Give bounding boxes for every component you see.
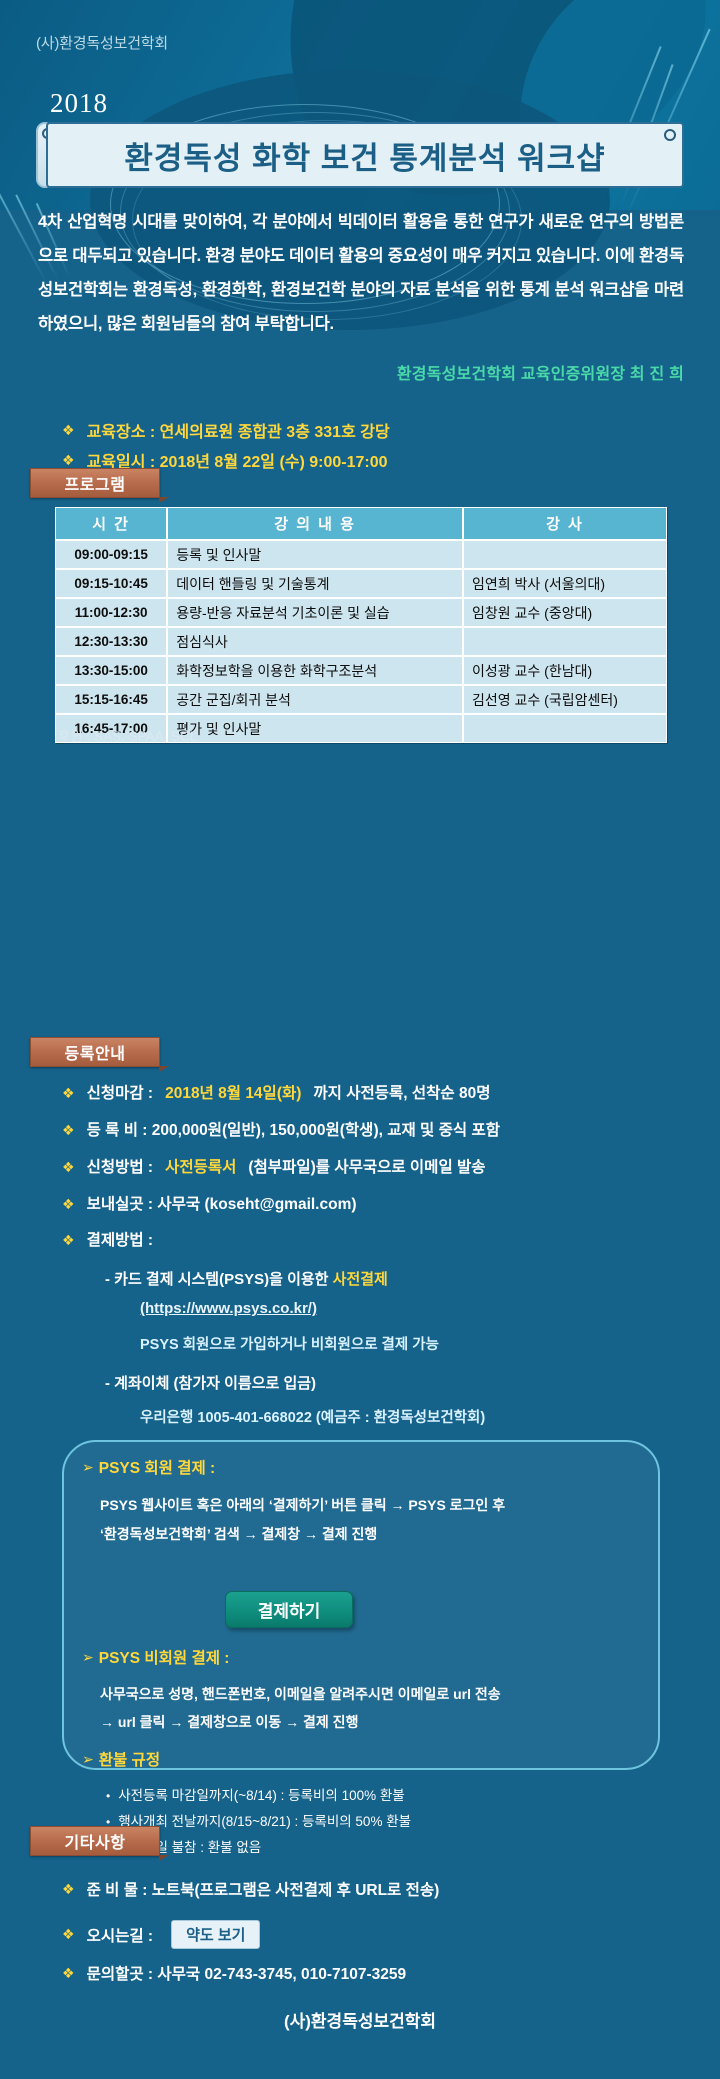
method-rest: (첨부파일)를 사무국으로 이메일 발송	[248, 1155, 485, 1177]
pay-button[interactable]: 결제하기	[225, 1591, 353, 1628]
cell-lecturer	[463, 714, 667, 743]
bank-transfer-line: - 계좌이체 (참가자 이름으로 입금)	[105, 1372, 316, 1393]
caret-right-icon: ➢	[82, 1649, 94, 1666]
psys-url-line: (https://www.psys.co.kr/)	[140, 1300, 317, 1317]
payment-label: 결제방법 :	[87, 1228, 154, 1250]
cell-topic: 데이터 핸들링 및 기술통계	[167, 569, 463, 598]
column-header-lecturer: 강 사	[463, 507, 667, 540]
table-row: 13:30-15:00 화학정보학을 이용한 화학구조분석 이성광 교수 (한남…	[55, 656, 667, 685]
psys-nonmember-step-2: → url 클릭 → 결제창으로 이동 → 결제 진행	[100, 1712, 358, 1732]
diamond-bullet-icon: ❖	[62, 1926, 75, 1943]
title-plate: 환경독성 화학 보건 통계분석 워크샵	[46, 122, 684, 188]
bank-account-line: 우리은행 1005-401-668022 (예금주 : 환경독성보건학회)	[140, 1406, 485, 1427]
deadline-label: 신청마감 :	[87, 1081, 154, 1103]
cell-lecturer: 이성광 교수 (한남대)	[463, 656, 667, 685]
refund-item-text: 행사개최 전날까지(8/15~8/21) : 등록비의 50% 환불	[118, 1810, 411, 1830]
sendto-text: 보내실곳 : 사무국 (koseht@gmail.com)	[87, 1192, 357, 1214]
table-header-row: 시 간 강 의 내 용 강 사	[55, 507, 667, 540]
psys-nonmember-heading-text: PSYS 비회원 결제 :	[99, 1646, 230, 1668]
sponsor-line: 후원 : SAS, SPAA, SCL	[58, 725, 197, 745]
diamond-bullet-icon: ❖	[62, 422, 75, 439]
cell-time: 13:30-15:00	[55, 656, 167, 685]
cell-lecturer: 김선영 교수 (국립암센터)	[463, 685, 667, 714]
cell-topic: 점심식사	[167, 627, 463, 656]
venue-text: 교육장소 : 연세의료원 종합관 3층 331호 강당	[87, 418, 390, 442]
cell-time: 15:15-16:45	[55, 685, 167, 714]
cell-topic: 공간 군집/회귀 분석	[167, 685, 463, 714]
method-label: 신청방법 :	[87, 1155, 154, 1177]
intro-paragraph: 4차 산업혁명 시대를 맞이하여, 각 분야에서 빅데이터 활용을 통한 연구가…	[38, 205, 684, 341]
cell-topic: 평가 및 인사말	[167, 714, 463, 743]
table-row: 12:30-13:30 점심식사	[55, 627, 667, 656]
section-header-registration: 등록안내	[30, 1037, 160, 1067]
refund-policy-heading: ➢ 환불 규정	[82, 1748, 160, 1770]
etc-directions-line: ❖ 오시는길 : 약도 보기	[62, 1920, 260, 1949]
cell-time: 12:30-13:30	[55, 627, 167, 656]
psys-nonmember-step-1: 사무국으로 성명, 핸드폰번호, 이메일을 알려주시면 이메일로 url 전송	[100, 1684, 501, 1704]
title-banner: 환경독성 화학 보건 통계분석 워크샵	[36, 122, 684, 188]
cell-lecturer: 임창원 교수 (중앙대)	[463, 598, 667, 627]
program-table: 시 간 강 의 내 용 강 사 09:00-09:15 등록 및 인사말 09:…	[55, 507, 667, 743]
psys-member-step-1: PSYS 웹사이트 혹은 아래의 ‘결제하기’ 버튼 클릭 → PSYS 로그인…	[100, 1495, 505, 1515]
map-view-button[interactable]: 약도 보기	[171, 1920, 260, 1949]
prepare-text: 준 비 물 : 노트북(프로그램은 사전결제 후 URL로 전송)	[87, 1878, 440, 1900]
psys-member-step-2: ‘환경독성보건학회’ 검색 → 결제창 → 결제 진행	[100, 1524, 377, 1544]
directions-label: 오시는길 :	[87, 1924, 154, 1946]
cell-lecturer	[463, 540, 667, 569]
registration-method-line: ❖ 신청방법 : 사전등록서 (첨부파일)를 사무국으로 이메일 발송	[62, 1155, 486, 1177]
caret-right-icon: ➢	[82, 1459, 94, 1476]
section-header-program: 프로그램	[30, 468, 160, 498]
registration-deadline-line: ❖ 신청마감 : 2018년 8월 14일(화) 까지 사전등록, 선착순 80…	[62, 1081, 490, 1103]
bullet-dot-icon: •	[106, 1789, 110, 1803]
table-row: 15:15-16:45 공간 군집/회귀 분석 김선영 교수 (국립암센터)	[55, 685, 667, 714]
psys-note-line: PSYS 회원으로 가입하거나 비회원으로 결제 가능	[140, 1333, 439, 1354]
psys-member-heading: ➢ PSYS 회원 결제 :	[82, 1456, 215, 1478]
card-payment-highlight: 사전결제	[333, 1271, 388, 1288]
cell-topic: 화학정보학을 이용한 화학구조분석	[167, 656, 463, 685]
registration-fee-line: ❖ 등 록 비 : 200,000원(일반), 150,000원(학생), 교재…	[62, 1118, 500, 1140]
cell-lecturer: 임연희 박사 (서울의대)	[463, 569, 667, 598]
column-header-topic: 강 의 내 용	[167, 507, 463, 540]
table-row: 11:00-12:30 용량-반응 자료분석 기초이론 및 실습 임창원 교수 …	[55, 598, 667, 627]
caret-right-icon: ➢	[82, 1751, 94, 1768]
psys-url-link[interactable]: (https://www.psys.co.kr/)	[140, 1300, 317, 1317]
etc-contact-line: ❖ 문의할곳 : 사무국 02-743-3745, 010-7107-3259	[62, 1962, 406, 1984]
contact-text: 문의할곳 : 사무국 02-743-3745, 010-7107-3259	[87, 1962, 407, 1984]
refund-item-text: 사전등록 마감일까지(~8/14) : 등록비의 100% 환불	[118, 1784, 404, 1804]
year-label: 2018	[50, 88, 108, 119]
registration-payment-line: ❖ 결제방법 :	[62, 1228, 153, 1250]
cell-time: 09:00-09:15	[55, 540, 167, 569]
psys-member-heading-text: PSYS 회원 결제 :	[99, 1456, 215, 1478]
card-payment-line: - 카드 결제 시스템(PSYS)을 이용한 사전결제	[105, 1268, 388, 1289]
cell-lecturer	[463, 627, 667, 656]
cell-time: 09:15-10:45	[55, 569, 167, 598]
table-row: 09:15-10:45 데이터 핸들링 및 기술통계 임연희 박사 (서울의대)	[55, 569, 667, 598]
card-payment-text: - 카드 결제 시스템(PSYS)을 이용한	[105, 1271, 333, 1288]
diamond-bullet-icon: ❖	[62, 1122, 75, 1139]
cell-time: 11:00-12:30	[55, 598, 167, 627]
diamond-bullet-icon: ❖	[62, 1196, 75, 1213]
fee-text: 등 록 비 : 200,000원(일반), 150,000원(학생), 교재 및…	[87, 1118, 500, 1140]
poster-root: (사)환경독성보건학회 2018 환경독성 화학 보건 통계분석 워크샵 4차 …	[0, 0, 720, 2079]
cell-topic: 등록 및 인사말	[167, 540, 463, 569]
diamond-bullet-icon: ❖	[62, 1085, 75, 1102]
diamond-bullet-icon: ❖	[62, 1965, 75, 1982]
table-row: 09:00-09:15 등록 및 인사말	[55, 540, 667, 569]
organization-name-top: (사)환경독성보건학회	[36, 32, 168, 53]
method-form-link[interactable]: 사전등록서	[165, 1155, 236, 1177]
refund-item: • 사전등록 마감일까지(~8/14) : 등록비의 100% 환불	[106, 1784, 405, 1804]
deadline-date: 2018년 8월 14일(화)	[165, 1081, 301, 1103]
diamond-bullet-icon: ❖	[62, 1159, 75, 1176]
footer-organization: (사)환경독성보건학회	[0, 2007, 720, 2032]
refund-policy-heading-text: 환불 규정	[99, 1748, 160, 1770]
psys-nonmember-heading: ➢ PSYS 비회원 결제 :	[82, 1646, 229, 1668]
diamond-bullet-icon: ❖	[62, 1881, 75, 1898]
deadline-rest: 까지 사전등록, 선착순 80명	[313, 1081, 490, 1103]
signature-line: 환경독성보건학회 교육인증위원장 최 진 희	[38, 360, 684, 384]
section-header-etc: 기타사항	[30, 1826, 160, 1856]
cell-topic: 용량-반응 자료분석 기초이론 및 실습	[167, 598, 463, 627]
column-header-time: 시 간	[55, 507, 167, 540]
diamond-bullet-icon: ❖	[62, 1232, 75, 1249]
diamond-bullet-icon: ❖	[62, 452, 75, 469]
venue-line: ❖ 교육장소 : 연세의료원 종합관 3층 331호 강당	[62, 418, 390, 442]
registration-sendto-line: ❖ 보내실곳 : 사무국 (koseht@gmail.com)	[62, 1192, 357, 1214]
etc-prepare-line: ❖ 준 비 물 : 노트북(프로그램은 사전결제 후 URL로 전송)	[62, 1878, 439, 1900]
page-title: 환경독성 화학 보건 통계분석 워크샵	[124, 133, 605, 178]
